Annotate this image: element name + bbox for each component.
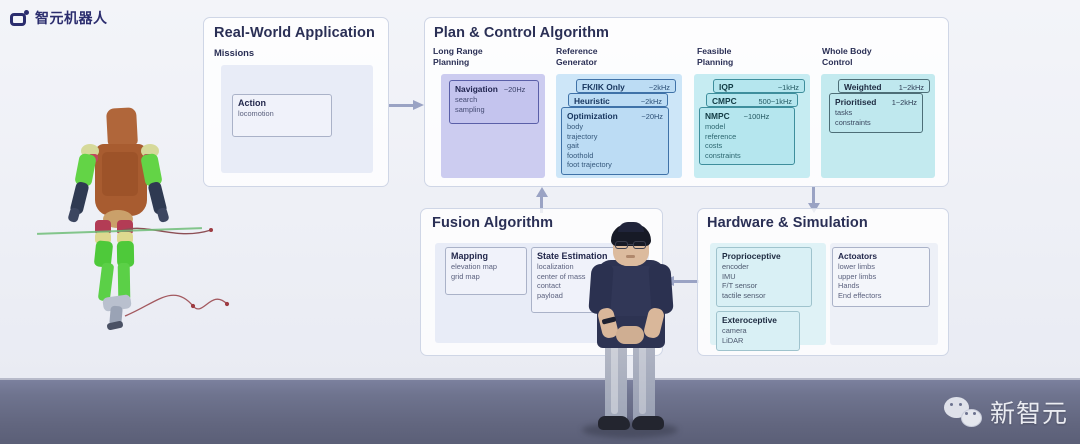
robot-figure	[55, 108, 205, 328]
label-line-2: Generator	[556, 57, 597, 67]
card-line: foot trajectory	[567, 160, 663, 170]
card-line: trajectory	[567, 132, 663, 142]
label-line-2: Planning	[697, 57, 733, 67]
screenshot-root: 智元机器人	[0, 0, 1080, 444]
card-nmpc[interactable]: NMPC ~100Hz model reference costs constr…	[699, 107, 795, 165]
brand-name: 智元机器人	[35, 8, 108, 28]
label-line-2: Control	[822, 57, 853, 67]
card-line: locomotion	[238, 109, 326, 119]
panel-title-hardware: Hardware & Simulation	[707, 215, 868, 231]
card-frequency: ~100Hz	[744, 112, 770, 121]
card-title: IQP	[719, 82, 733, 92]
card-frequency: 1~2kHz	[892, 98, 917, 107]
label-line-2: Planning	[433, 57, 469, 67]
card-line: costs	[705, 141, 789, 151]
card-line: body	[567, 122, 663, 132]
card-title: Navigation	[455, 84, 498, 94]
card-frequency: ~20Hz	[641, 112, 663, 121]
card-line: lower limbs	[838, 262, 924, 272]
label-whole-body-control: Whole Body Control	[822, 46, 872, 68]
label-line-1: Long Range	[433, 46, 483, 56]
label-line-1: Feasible	[697, 46, 731, 56]
card-line: search	[455, 95, 533, 105]
presenter	[578, 222, 684, 444]
label-line-1: Reference	[556, 46, 598, 56]
label-reference-generator: Reference Generator	[556, 46, 598, 68]
card-title: Actoators	[838, 251, 877, 261]
brand-logo: 智元机器人	[10, 8, 108, 28]
card-frequency: ~2kHz	[641, 97, 662, 106]
card-line: camera	[722, 326, 794, 336]
card-title: Exteroceptive	[722, 315, 777, 325]
panel-real-world-application: Action locomotion	[203, 17, 389, 187]
card-line: elevation map	[451, 262, 521, 272]
card-line: constraints	[835, 118, 917, 128]
card-frequency: 1~2kHz	[899, 83, 924, 92]
card-line: LiDAR	[722, 336, 794, 346]
card-title: NMPC	[705, 111, 730, 121]
card-line: upper limbs	[838, 272, 924, 282]
card-fk-ik-only[interactable]: FK/IK Only ~2kHz	[576, 79, 676, 93]
card-frequency: ~1kHz	[778, 83, 799, 92]
panel-title-real-world: Real-World Application	[214, 25, 375, 41]
card-title: Proprioceptive	[722, 251, 781, 261]
card-title: Optimization	[567, 111, 618, 121]
label-feasible-planning: Feasible Planning	[697, 46, 733, 68]
agibot-logo-icon	[10, 11, 28, 26]
card-line: Hands	[838, 281, 924, 291]
card-frequency: ~2kHz	[649, 83, 670, 92]
watermark: 新智元	[944, 394, 1068, 430]
card-proprioceptive[interactable]: Proprioceptive encoder IMU F/T sensor ta…	[716, 247, 812, 307]
label-missions: Missions	[214, 47, 254, 58]
card-weighted[interactable]: Weighted 1~2kHz	[838, 79, 930, 93]
card-title: Mapping	[451, 251, 488, 261]
card-line: IMU	[722, 272, 806, 282]
card-line: model	[705, 122, 789, 132]
trajectory-curve-icon	[115, 208, 245, 328]
wechat-icon	[944, 397, 982, 427]
card-title: Weighted	[844, 82, 882, 92]
card-title: FK/IK Only	[582, 82, 625, 92]
panel-title-plan-control: Plan & Control Algorithm	[434, 25, 609, 41]
card-optimization[interactable]: Optimization ~20Hz body trajectory gait …	[561, 107, 669, 175]
card-exteroceptive[interactable]: Exteroceptive camera LiDAR	[716, 311, 800, 351]
card-line: encoder	[722, 262, 806, 272]
card-line: reference	[705, 132, 789, 142]
card-actoators[interactable]: Actoators lower limbs upper limbs Hands …	[832, 247, 930, 307]
label-line-1: Whole Body	[822, 46, 872, 56]
label-long-range-planning: Long Range Planning	[433, 46, 483, 68]
stage-floor	[0, 378, 1080, 444]
panel-plan-control-algorithm: Navigation ~20Hz search sampling FK/IK O…	[424, 17, 949, 187]
card-title: Prioritised	[835, 97, 876, 107]
panel-title-fusion: Fusion Algorithm	[432, 215, 553, 231]
card-iqp[interactable]: IQP ~1kHz	[713, 79, 805, 93]
card-line: gait	[567, 141, 663, 151]
card-line: sampling	[455, 105, 533, 115]
arrow-realworld-to-plan	[389, 100, 425, 110]
card-line: foothold	[567, 151, 663, 161]
card-line: End effectors	[838, 291, 924, 301]
card-line: tactile sensor	[722, 291, 806, 301]
card-line: grid map	[451, 272, 521, 282]
card-action[interactable]: Action locomotion	[232, 94, 332, 137]
card-cmpc[interactable]: CMPC 500~1kHz	[706, 93, 798, 107]
card-line: F/T sensor	[722, 281, 806, 291]
card-line: tasks	[835, 108, 917, 118]
card-title: Action	[238, 98, 266, 108]
card-title: Heuristic	[574, 96, 610, 106]
card-line: constraints	[705, 151, 789, 161]
card-frequency: 500~1kHz	[759, 97, 793, 106]
card-navigation[interactable]: Navigation ~20Hz search sampling	[449, 80, 539, 124]
card-prioritised[interactable]: Prioritised 1~2kHz tasks constraints	[829, 93, 923, 133]
card-title: CMPC	[712, 96, 737, 106]
watermark-text: 新智元	[990, 394, 1068, 430]
card-heuristic[interactable]: Heuristic ~2kHz	[568, 93, 668, 107]
card-frequency: ~20Hz	[504, 85, 526, 94]
card-mapping[interactable]: Mapping elevation map grid map	[445, 247, 527, 295]
